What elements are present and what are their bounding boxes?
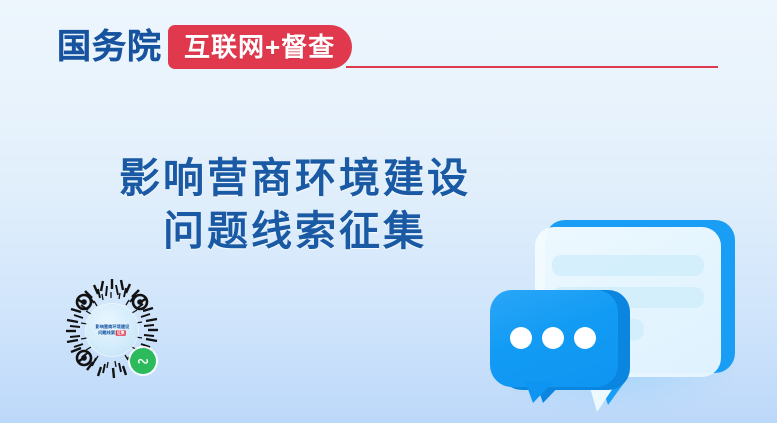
qr-center-line-1: 影响营商环境建设 [95, 324, 129, 330]
gov-logo-text: 国务院 [57, 26, 162, 68]
qr-center-label: 影响营商环境建设 问题线索 征集 [86, 304, 138, 356]
promo-banner: 国务院 互联网+督查 影响营商环境建设 问题线索征集 [0, 0, 777, 423]
banner-header: 国务院 互联网+督查 [0, 0, 777, 88]
internet-plus-supervision-tag[interactable]: 互联网+督查 [168, 25, 352, 69]
tag-label: 互联网+督查 [184, 34, 335, 60]
qr-center-line-2: 问题线索 征集 [98, 330, 125, 336]
qr-center-badge: 征集 [116, 330, 126, 336]
bubble-text-line-1 [552, 255, 704, 276]
header-divider-rule [346, 66, 718, 68]
mini-program-glyph [135, 353, 151, 369]
qr-center-line-2-text: 问题线索 [98, 330, 115, 336]
qr-code[interactable]: 影响营商环境建设 问题线索 征集 [58, 276, 166, 384]
typing-dot-1 [510, 327, 532, 349]
speech-bubble-illustration [455, 195, 745, 410]
small-bubble-tail [525, 381, 554, 403]
wechat-mini-program-icon [130, 348, 156, 374]
typing-dot-3 [574, 327, 596, 349]
typing-dot-2 [542, 327, 564, 349]
